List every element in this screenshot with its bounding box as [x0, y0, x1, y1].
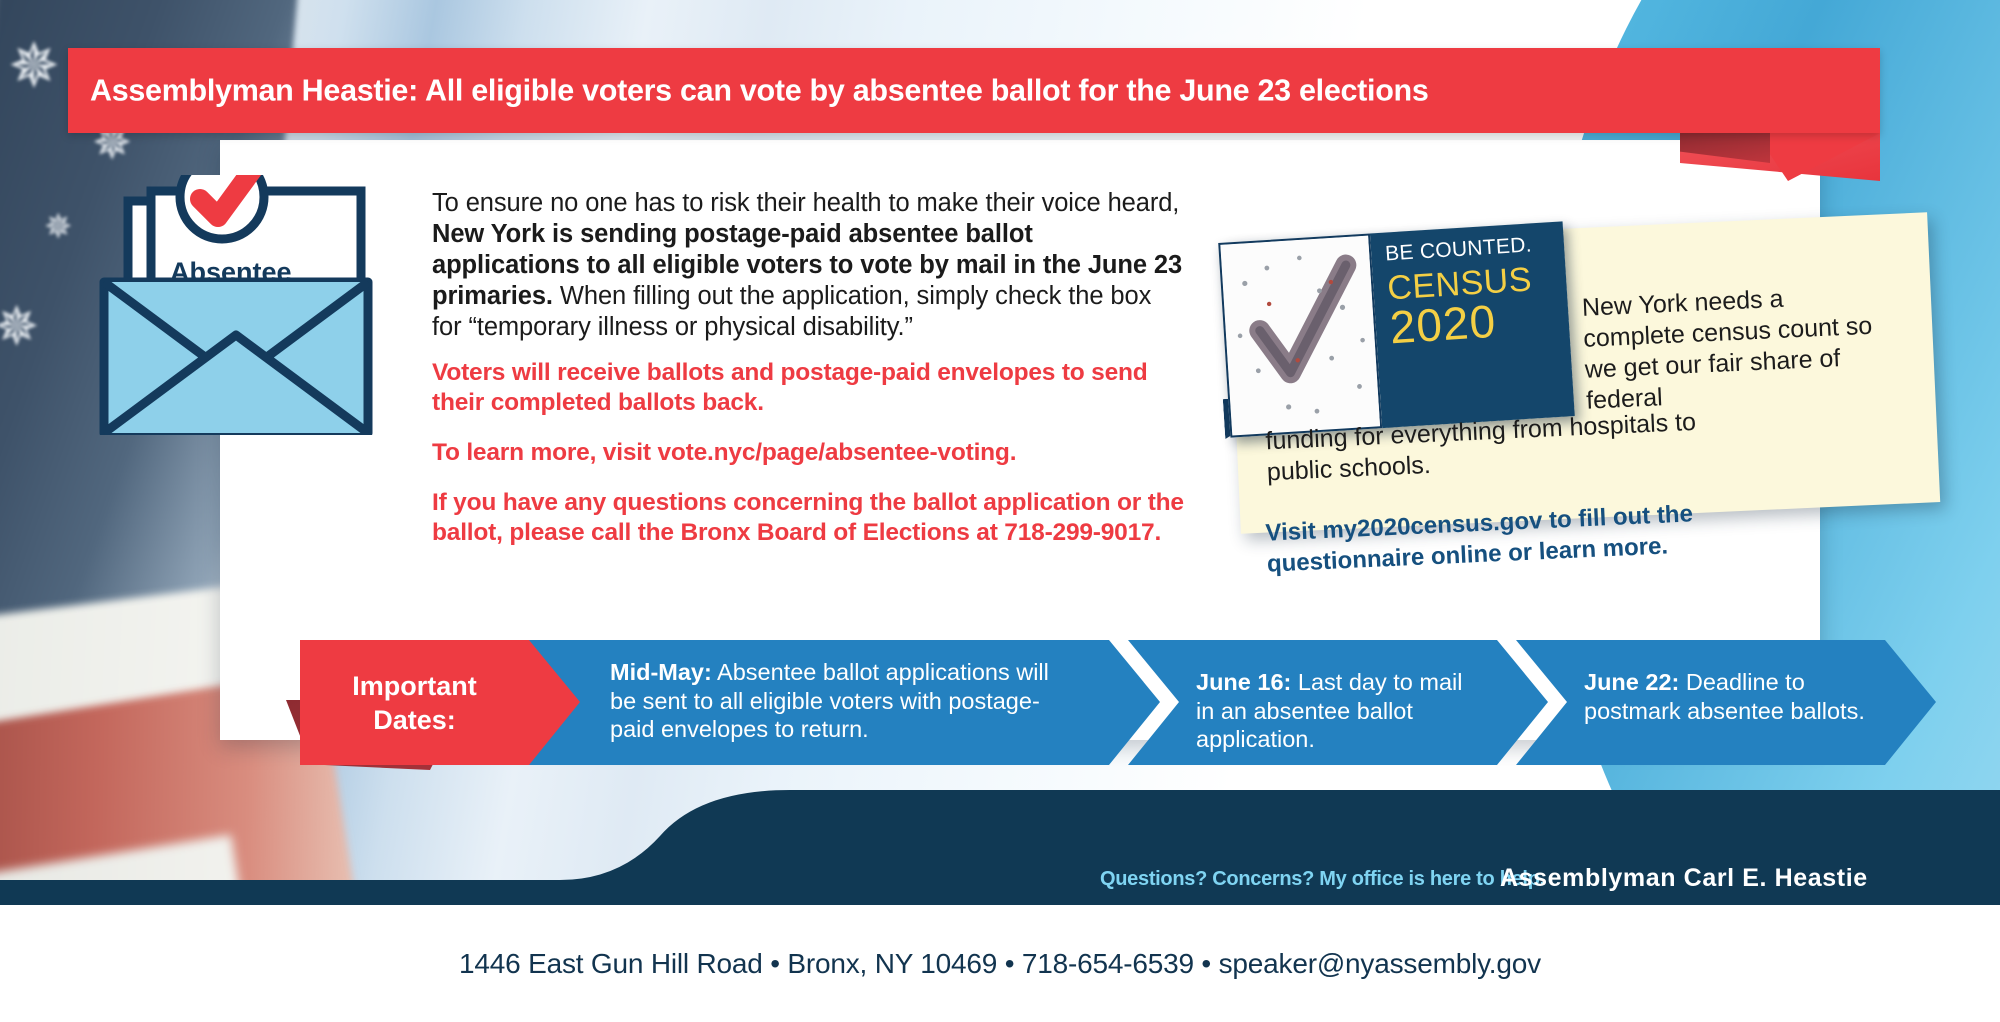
- timeline-segment-1: Mid-May: Absentee ballot applications wi…: [520, 640, 1160, 765]
- timeline-segment-2: June 16: Last day to mail in an absentee…: [1128, 640, 1548, 765]
- footer-name: Assemblyman Carl E. Heastie: [1500, 864, 1868, 893]
- red-paragraph-2: To learn more, visit vote.nyc/page/absen…: [432, 438, 1184, 468]
- footer-question-line: Questions? Concerns? My office is here t…: [1100, 868, 1545, 891]
- timeline-item-2-text: June 16: Last day to mail in an absentee…: [1196, 668, 1486, 754]
- red-paragraph-1: Voters will receive ballots and postage-…: [432, 358, 1184, 418]
- timeline-item-1-text: Mid-May: Absentee ballot applications wi…: [610, 658, 1080, 744]
- red-paragraph-3: If you have any questions concerning the…: [432, 488, 1184, 548]
- census-crowd-checkmark-image: [1218, 233, 1382, 437]
- page-title-text: Assemblyman Heastie: All eligible voters…: [90, 73, 1429, 108]
- intro-plain-1: To ensure no one has to risk their healt…: [432, 189, 1179, 217]
- absentee-voting-icon: Absentee VOTING: [96, 175, 416, 435]
- timeline-item-1-date: Mid-May:: [610, 659, 712, 685]
- timeline-segment-3: June 22: Deadline to postmark absentee b…: [1516, 640, 1936, 765]
- main-copy: To ensure no one has to risk their healt…: [432, 188, 1184, 568]
- timeline-label-arrow: Important Dates:: [300, 640, 580, 765]
- footer-address: 1446 East Gun Hill Road • Bronx, NY 1046…: [0, 905, 2000, 1022]
- page-title: Assemblyman Heastie: All eligible voters…: [90, 73, 1429, 108]
- census-year: 2020: [1389, 295, 1570, 350]
- flyer-canvas: ✵ ✵ ✵ ✵ ✵ Assemblyman Heastie: All eligi…: [0, 0, 2000, 1022]
- timeline-label: Important Dates:: [300, 640, 529, 765]
- intro-paragraph: To ensure no one has to risk their healt…: [432, 188, 1184, 343]
- timeline-label-line1: Important: [352, 669, 477, 703]
- census-text-right: New York needs a complete census count s…: [1581, 279, 1886, 416]
- census-logo-text: BE COUNTED. CENSUS 2020: [1370, 221, 1575, 428]
- census-logo: BE COUNTED. CENSUS 2020: [1218, 221, 1575, 437]
- timeline-item-3-text: June 22: Deadline to postmark absentee b…: [1584, 668, 1874, 725]
- header-banner: Assemblyman Heastie: All eligible voters…: [68, 48, 1880, 133]
- timeline-item-3-date: June 22:: [1584, 669, 1679, 695]
- census-be-counted: BE COUNTED.: [1385, 231, 1565, 266]
- timeline-item-2-date: June 16:: [1196, 669, 1291, 695]
- timeline-label-line2: Dates:: [373, 703, 456, 737]
